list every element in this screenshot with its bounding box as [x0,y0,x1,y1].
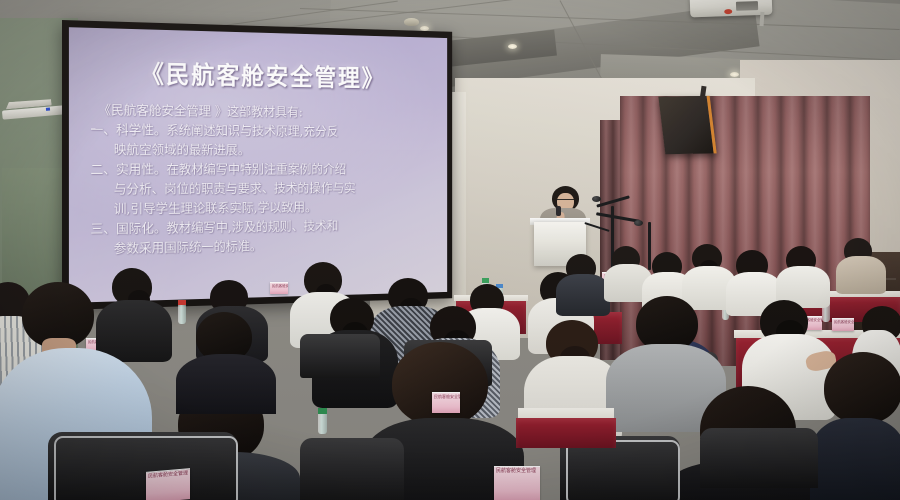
slide-line: 一、科学性。系统阐述知识与技术原理,充分反 [89,121,438,143]
chair-frame [566,440,680,500]
attendee-torso [836,256,886,294]
slide-body: 《民航客舱安全管理 》这部教材具有: 一、科学性。系统阐述知识与技术原理,充分反… [89,101,438,261]
projection-screen-frame: 《民航客舱安全管理》 《民航客舱安全管理 》这部教材具有: 一、科学性。系统阐述… [62,20,452,310]
chair [300,334,380,378]
wall-speaker [658,96,716,154]
glasses-icon [557,199,574,204]
place-card: 民航客舱安全管理 [270,282,288,294]
attendee-torso [176,354,276,414]
water-bottle [178,300,186,324]
wall-air-conditioner [1,93,65,126]
microphone-icon [592,196,601,202]
ac-led-indicator [46,108,50,111]
attendee-hair [392,342,488,426]
slide-title: 《民航客舱安全管理》 [69,53,447,95]
downlight [508,44,517,49]
place-card: 民航客舱安全管理 [494,466,540,500]
microphone-icon [634,220,643,226]
place-card: 民航客舱安全管理 [832,318,854,331]
handheld-microphone [556,206,561,216]
attendee-torso [556,274,610,316]
attendee-torso [810,418,900,500]
water-bottle [318,408,327,434]
chair [300,438,404,500]
downlight [730,72,739,77]
smoke-detector-icon [404,18,419,26]
slide-line: 映航空领域的最新进展。 [89,141,438,161]
conference-room-photo: 《民航客舱安全管理》 《民航客舱安全管理 》这部教材具有: 一、科学性。系统阐述… [0,0,900,500]
chair [700,428,818,488]
slide-line: 参数采用国际统一的标准。 [89,235,438,261]
attendee-hair [824,352,900,424]
place-card: 民航客舱安全管理 [432,392,460,413]
place-card: 民航客舱安全管理 [146,468,190,500]
table-with-red-cloth [516,418,616,448]
slide-line: 二、实用性。在教材编写中特别注重案例的介绍 [89,161,438,181]
mic-stand-pole [648,222,651,270]
projection-screen: 《民航客舱安全管理》 《民航客舱安全管理 》这部教材具有: 一、科学性。系统阐述… [69,27,447,303]
